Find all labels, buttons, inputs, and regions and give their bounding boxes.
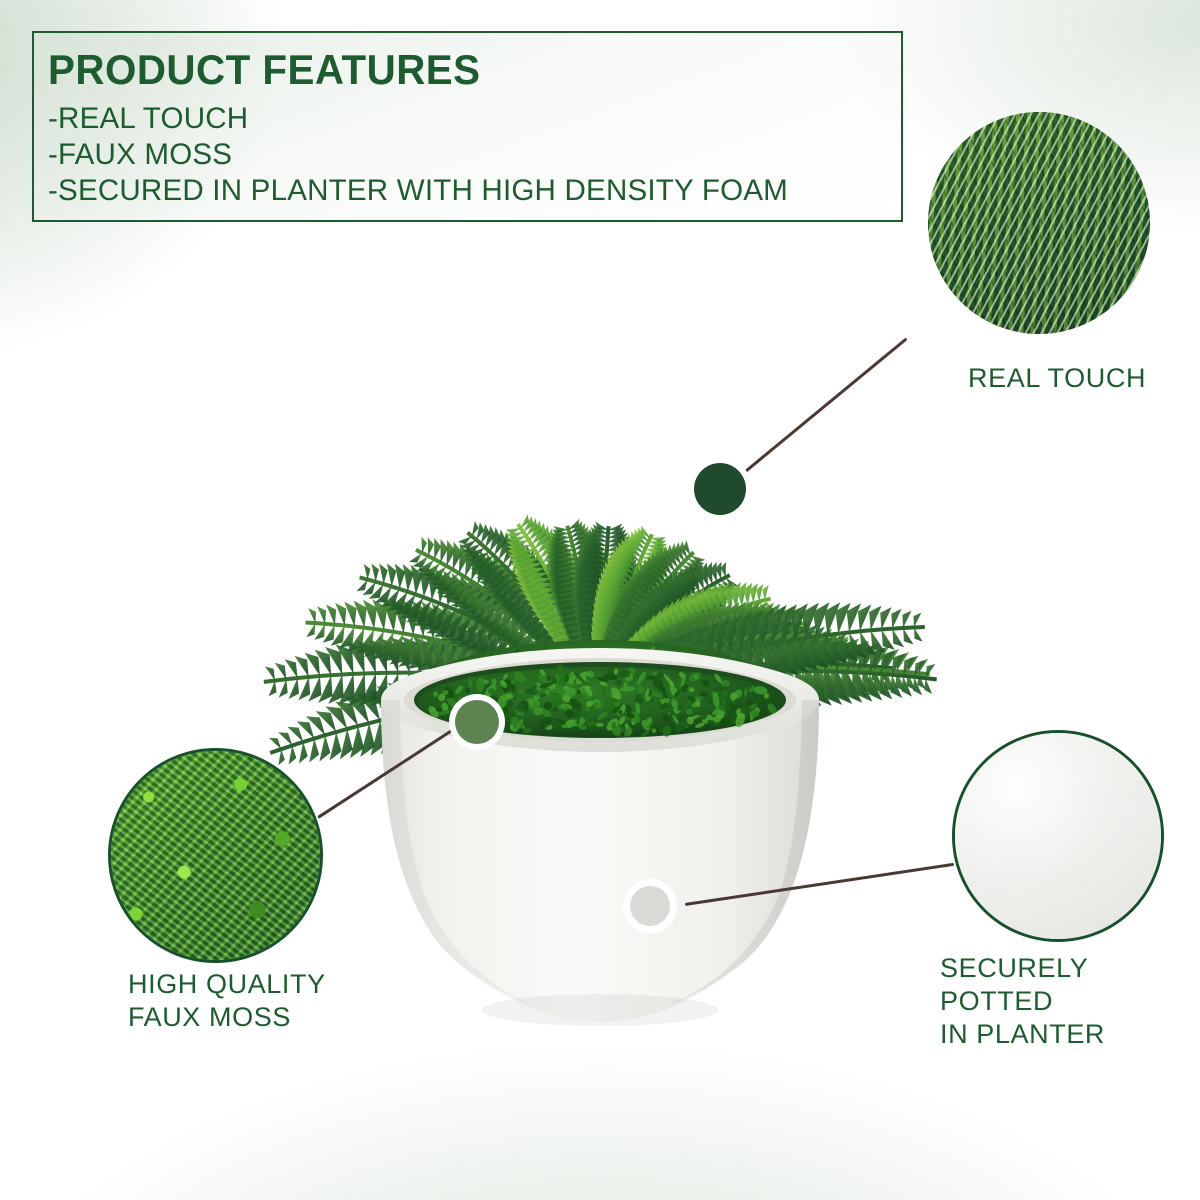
feature-item-3: -SECURED IN PLANTER WITH HIGH DENSITY FO… (48, 173, 888, 209)
detail-circle-securely-potted (952, 730, 1164, 942)
planter (381, 648, 819, 1026)
callout-label-real-touch: REAL TOUCH (968, 362, 1146, 395)
feature-item-1: -REAL TOUCH (48, 101, 888, 137)
white-planter-closeup-texture (955, 733, 1161, 939)
product-feature-infographic: PRODUCT FEATURES -REAL TOUCH -FAUX MOSS … (0, 0, 1200, 1200)
connector-line-faux-moss (317, 729, 453, 819)
faux-moss-closeup-texture (111, 751, 320, 960)
connector-line-real-touch (725, 338, 907, 489)
callout-label-faux-moss: HIGH QUALITY FAUX MOSS (128, 968, 326, 1034)
plant-foliage (264, 514, 937, 805)
marker-fill-faux-moss (455, 700, 499, 744)
marker-faux-moss[interactable] (449, 694, 505, 750)
page-title: PRODUCT FEATURES (48, 45, 867, 95)
callout-label-securely-potted: SECURELY POTTED IN PLANTER (940, 952, 1200, 1051)
marker-fill-securely-potted (630, 886, 670, 926)
palm-frond-closeup-texture (928, 112, 1150, 334)
marker-securely-potted[interactable] (623, 879, 677, 933)
product-features-box: PRODUCT FEATURES -REAL TOUCH -FAUX MOSS … (32, 31, 903, 222)
feature-list: -REAL TOUCH -FAUX MOSS -SECURED IN PLANT… (46, 101, 901, 209)
marker-fill-real-touch (694, 463, 746, 515)
marker-real-touch[interactable] (688, 457, 752, 521)
detail-circle-faux-moss (108, 748, 323, 963)
connector-line-securely-potted (685, 863, 954, 906)
detail-circle-real-touch (928, 112, 1150, 334)
feature-item-2: -FAUX MOSS (48, 137, 888, 173)
